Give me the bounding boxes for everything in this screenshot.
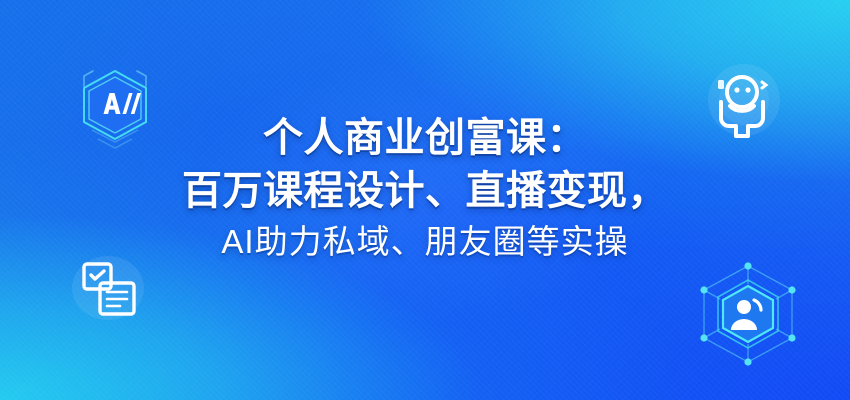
course-promo-banner: 个人商业创富课： 百万课程设计、直播变现， AI助力私域、朋友圈等实操 [0,0,850,400]
title-line-1: 个人商业创富课： [0,112,850,165]
banner-title: 个人商业创富课： 百万课程设计、直播变现， AI助力私域、朋友圈等实操 [0,112,850,266]
title-line-3: AI助力私域、朋友圈等实操 [0,218,850,266]
network-user-icon [694,262,802,366]
title-line-2: 百万课程设计、直播变现， [0,165,850,218]
